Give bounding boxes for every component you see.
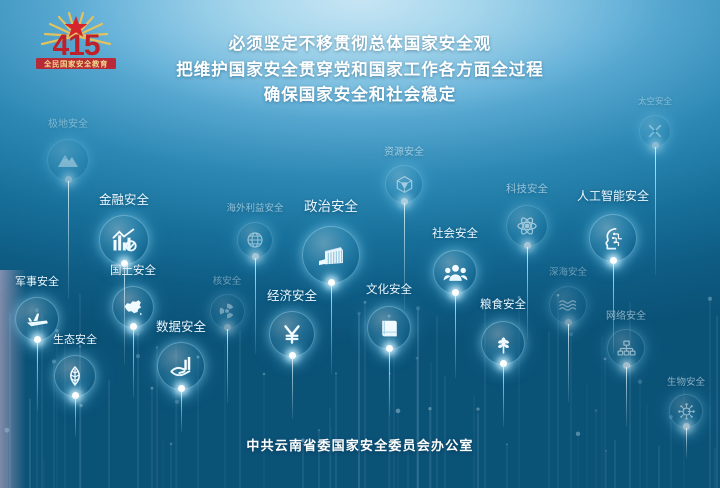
security-node-stem bbox=[568, 324, 569, 402]
security-node-bubble[interactable] bbox=[302, 226, 360, 284]
security-node-bubble[interactable] bbox=[99, 215, 149, 265]
security-node-stem bbox=[68, 181, 69, 299]
security-node-bubble[interactable] bbox=[210, 294, 245, 329]
security-node-stem bbox=[389, 350, 390, 416]
security-node-stem bbox=[292, 357, 293, 419]
map-china-icon bbox=[121, 295, 145, 319]
security-node[interactable]: 国土安全 bbox=[112, 286, 154, 328]
network-icon bbox=[616, 338, 637, 359]
security-node-bubble[interactable] bbox=[157, 342, 205, 390]
yuan-icon bbox=[279, 321, 305, 347]
issuing-office: 中共云南省委国家安全委员会办公室 bbox=[0, 435, 720, 454]
security-node[interactable]: 生物安全 bbox=[669, 394, 703, 428]
headline-line-3: 确保国家安全和社会稳定 bbox=[140, 83, 580, 109]
security-node-stem bbox=[626, 367, 627, 427]
leaf-icon bbox=[63, 364, 87, 388]
brain-chip-icon bbox=[600, 225, 627, 252]
wheat-icon bbox=[491, 331, 516, 356]
security-node-label: 数据安全 bbox=[156, 316, 206, 335]
gem-icon bbox=[394, 174, 415, 195]
security-node-label: 太空安全 bbox=[638, 95, 672, 107]
security-node-stem bbox=[455, 294, 456, 378]
security-node-label: 政治安全 bbox=[304, 195, 358, 215]
security-node[interactable]: 太空安全 bbox=[639, 115, 671, 147]
security-node-stem bbox=[655, 147, 656, 275]
national-security-education-logo: 415 全民国家安全教育 bbox=[22, 10, 130, 72]
security-node-label: 经济安全 bbox=[267, 285, 317, 304]
security-node-label: 人工智能安全 bbox=[577, 187, 649, 204]
satellite-icon bbox=[646, 122, 664, 140]
security-node-label: 国土安全 bbox=[110, 262, 156, 278]
security-node-bubble[interactable] bbox=[112, 286, 154, 328]
headline: 必须坚定不移贯彻总体国家安全观 把维护国家安全贯穿党和国家工作各方面全过程 确保… bbox=[140, 32, 580, 109]
security-node[interactable]: 深海安全 bbox=[549, 286, 587, 324]
security-node[interactable]: 海外利益安全 bbox=[237, 222, 273, 258]
security-node-label: 粮食安全 bbox=[480, 296, 526, 312]
security-node-bubble[interactable] bbox=[54, 355, 96, 397]
chart-bar-icon bbox=[110, 226, 138, 254]
security-node-label: 金融安全 bbox=[99, 189, 149, 208]
security-node-stem bbox=[331, 284, 332, 374]
hand-data-icon bbox=[168, 353, 195, 380]
security-node[interactable]: 文化安全 bbox=[367, 306, 411, 350]
security-node-label: 资源安全 bbox=[384, 143, 424, 158]
globe-icon bbox=[245, 230, 265, 250]
security-node-label: 科技安全 bbox=[506, 181, 548, 196]
security-node[interactable]: 金融安全 bbox=[99, 215, 149, 265]
security-node-stem bbox=[37, 341, 38, 411]
svg-text:415: 415 bbox=[52, 29, 99, 62]
mountain-icon bbox=[56, 148, 80, 172]
security-node-label: 军事安全 bbox=[15, 273, 59, 289]
security-node-label: 生态安全 bbox=[53, 331, 97, 347]
security-node-stem bbox=[227, 329, 228, 403]
poster-canvas: 415 全民国家安全教育 必须坚定不移贯彻总体国家安全观 把维护国家安全贯穿党和… bbox=[0, 0, 720, 488]
security-node-label: 深海安全 bbox=[549, 264, 587, 278]
people-icon bbox=[443, 260, 468, 285]
building-icon bbox=[315, 239, 347, 271]
security-node[interactable]: 网络安全 bbox=[607, 329, 645, 367]
security-node[interactable]: 粮食安全 bbox=[481, 321, 525, 365]
security-node[interactable]: 数据安全 bbox=[157, 342, 205, 390]
wave-icon bbox=[558, 295, 579, 316]
headline-line-1: 必须坚定不移贯彻总体国家安全观 bbox=[140, 32, 580, 58]
security-node[interactable]: 资源安全 bbox=[385, 165, 423, 203]
security-node-bubble[interactable] bbox=[47, 139, 89, 181]
security-node[interactable]: 经济安全 bbox=[269, 311, 315, 357]
security-node-label: 社会安全 bbox=[432, 225, 478, 241]
security-node-stem bbox=[181, 390, 182, 432]
security-node-label: 核安全 bbox=[213, 273, 242, 287]
security-node[interactable]: 人工智能安全 bbox=[589, 214, 637, 262]
security-node[interactable]: 核安全 bbox=[210, 294, 245, 329]
radiation-icon bbox=[217, 301, 237, 321]
security-node[interactable]: 科技安全 bbox=[506, 205, 548, 247]
molecule-icon bbox=[677, 402, 696, 421]
security-node-label: 极地安全 bbox=[48, 115, 88, 130]
security-node-label: 生物安全 bbox=[667, 374, 705, 388]
security-node-bubble[interactable] bbox=[549, 286, 587, 324]
security-node-label: 文化安全 bbox=[366, 281, 412, 297]
security-node-bubble[interactable] bbox=[237, 222, 273, 258]
security-node-bubble[interactable] bbox=[589, 214, 637, 262]
book-icon bbox=[377, 316, 402, 341]
security-node-label: 网络安全 bbox=[606, 307, 646, 322]
security-node-bubble[interactable] bbox=[367, 306, 411, 350]
security-node-stem bbox=[133, 328, 134, 398]
security-node[interactable]: 政治安全 bbox=[302, 226, 360, 284]
security-node-stem bbox=[503, 365, 504, 427]
security-node-bubble[interactable] bbox=[669, 394, 703, 428]
security-node-bubble[interactable] bbox=[385, 165, 423, 203]
security-node-label: 海外利益安全 bbox=[226, 200, 283, 214]
headline-line-2: 把维护国家安全贯穿党和国家工作各方面全过程 bbox=[140, 58, 580, 84]
logo-caption: 全民国家安全教育 bbox=[43, 60, 108, 69]
security-node[interactable]: 生态安全 bbox=[54, 355, 96, 397]
security-node-stem bbox=[75, 397, 76, 437]
security-node-bubble[interactable] bbox=[607, 329, 645, 367]
security-node-stem bbox=[527, 247, 528, 339]
security-node-bubble[interactable] bbox=[269, 311, 315, 357]
security-node[interactable]: 极地安全 bbox=[47, 139, 89, 181]
security-node-stem bbox=[255, 258, 256, 354]
security-node[interactable]: 社会安全 bbox=[433, 250, 477, 294]
security-node-bubble[interactable] bbox=[433, 250, 477, 294]
atom-icon bbox=[515, 214, 539, 238]
security-node-bubble[interactable] bbox=[506, 205, 548, 247]
security-node-bubble[interactable] bbox=[481, 321, 525, 365]
aircraft-icon bbox=[25, 307, 50, 332]
security-node-bubble[interactable] bbox=[639, 115, 671, 147]
